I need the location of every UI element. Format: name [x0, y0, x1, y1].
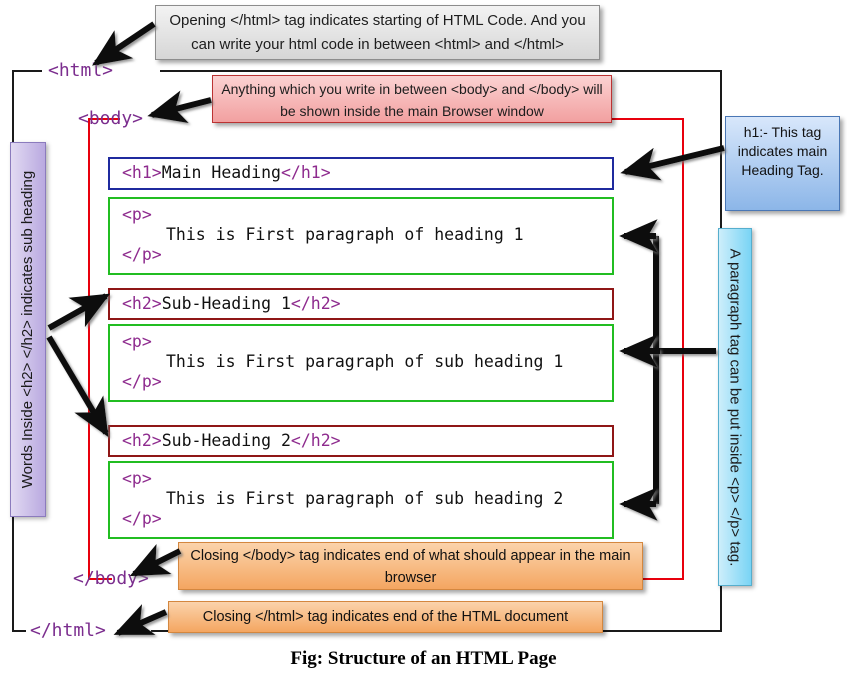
text-h2b-content: Sub-Heading 2	[162, 431, 291, 450]
code-box-paragraph-3: <p> This is First paragraph of sub headi…	[108, 461, 614, 539]
tag-p1-close: </p>	[122, 245, 162, 264]
callout-opening-html: Opening </html> tag indicates starting o…	[155, 5, 600, 60]
tag-h2a-close: </h2>	[291, 294, 341, 313]
code-line-p1-open: <p>	[110, 205, 612, 225]
html-open-tag-label: <html>	[48, 60, 113, 81]
code-line-p3-open: <p>	[110, 469, 612, 489]
html-close-tag-label: </html>	[30, 620, 106, 641]
side-note-paragraph: A paragraph tag can be put inside <p> </…	[718, 228, 752, 586]
arrow-to-html-tag	[96, 24, 154, 63]
callout-body-note-text: Anything which you write in between <bod…	[219, 78, 605, 122]
tag-h2a-open: <h2>	[122, 294, 162, 313]
side-note-h2: Words Inside <h2> </h2> indicates sub he…	[10, 142, 46, 517]
code-line-p1-text: This is First paragraph of heading 1	[110, 225, 612, 245]
callout-closing-html-text: Closing </html> tag indicates end of the…	[175, 602, 596, 632]
callout-h1-note-text: h1:- This tag indicates main Heading Tag…	[730, 123, 835, 180]
code-box-paragraph-1: <p> This is First paragraph of heading 1…	[108, 197, 614, 275]
callout-h1-note: h1:- This tag indicates main Heading Tag…	[725, 116, 840, 211]
text-h1-content: Main Heading	[162, 163, 281, 182]
callout-closing-body: Closing </body> tag indicates end of wha…	[178, 542, 643, 590]
code-line-h2b: <h2>Sub-Heading 2</h2>	[110, 431, 612, 451]
body-open-tag-label: <body>	[78, 108, 143, 129]
side-note-paragraph-label: A paragraph tag can be put inside <p> </…	[727, 248, 744, 566]
callout-body-note: Anything which you write in between <bod…	[212, 75, 612, 123]
tag-p3-close: </p>	[122, 509, 162, 528]
code-box-h2-1: <h2>Sub-Heading 1</h2>	[108, 288, 614, 320]
code-line-p2-open: <p>	[110, 332, 612, 352]
tag-p3-open: <p>	[122, 469, 152, 488]
tag-h1-close: </h1>	[281, 163, 331, 182]
diagram-canvas: <html> </html> <body> </body> <h1>Main H…	[0, 0, 847, 685]
code-line-p1-close: </p>	[110, 245, 612, 265]
tag-p1-open: <p>	[122, 205, 152, 224]
tag-p2-close: </p>	[122, 372, 162, 391]
code-box-h1: <h1>Main Heading</h1>	[108, 157, 614, 190]
code-line-p3-text: This is First paragraph of sub heading 2	[110, 489, 612, 509]
code-line-p2-text: This is First paragraph of sub heading 1	[110, 352, 612, 372]
callout-opening-html-text: Opening </html> tag indicates starting o…	[164, 9, 591, 57]
code-line-p3-close: </p>	[110, 509, 612, 529]
side-note-h2-label: Words Inside <h2> </h2> indicates sub he…	[20, 171, 37, 488]
text-p3-content: This is First paragraph of sub heading 2	[166, 489, 563, 508]
text-p2-content: This is First paragraph of sub heading 1	[166, 352, 563, 371]
body-close-tag-label: </body>	[73, 568, 149, 589]
code-box-paragraph-2: <p> This is First paragraph of sub headi…	[108, 324, 614, 402]
code-line-h1: <h1>Main Heading</h1>	[110, 163, 612, 183]
code-box-h2-2: <h2>Sub-Heading 2</h2>	[108, 425, 614, 457]
code-line-h2a: <h2>Sub-Heading 1</h2>	[110, 294, 612, 314]
code-line-p2-close: </p>	[110, 372, 612, 392]
text-h2a-content: Sub-Heading 1	[162, 294, 291, 313]
tag-h2b-close: </h2>	[291, 431, 341, 450]
tag-p2-open: <p>	[122, 332, 152, 351]
callout-closing-html: Closing </html> tag indicates end of the…	[168, 601, 603, 633]
tag-h1-open: <h1>	[122, 163, 162, 182]
callout-closing-body-text: Closing </body> tag indicates end of wha…	[185, 545, 636, 589]
tag-h2b-open: <h2>	[122, 431, 162, 450]
text-p1-content: This is First paragraph of heading 1	[166, 225, 524, 244]
figure-caption: Fig: Structure of an HTML Page	[0, 648, 847, 670]
